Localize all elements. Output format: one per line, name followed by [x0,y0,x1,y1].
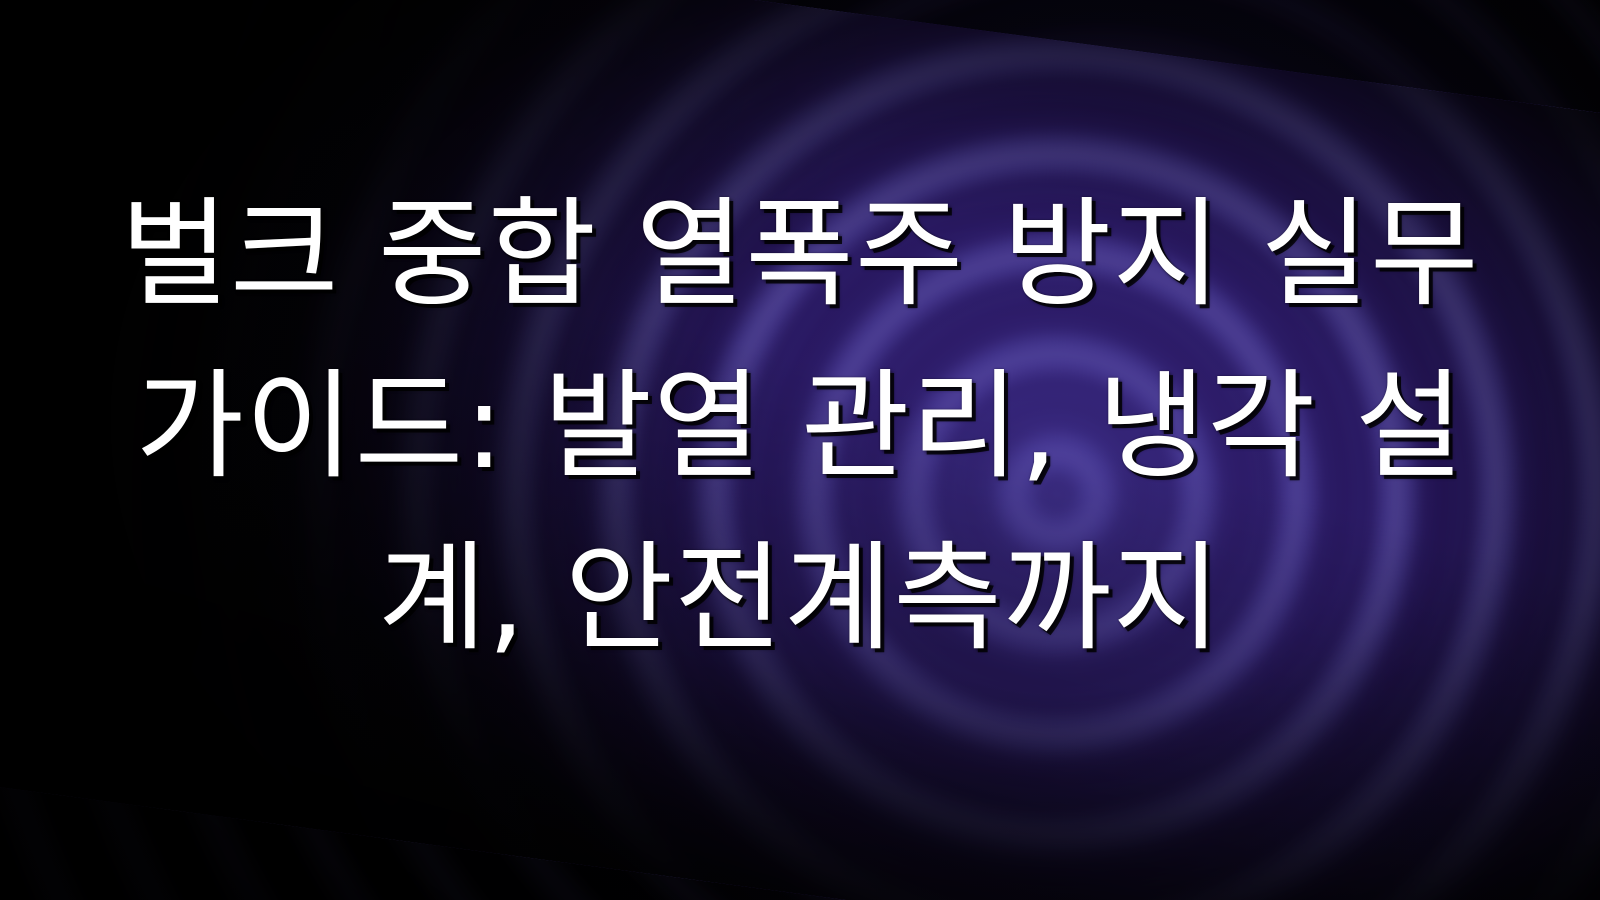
slab-bottom-shade [0,0,1600,900]
slide-canvas: 벌크 중합 열폭주 방지 실무 가이드: 발열 관리, 냉각 설 계, 안전계측… [0,0,1600,900]
background-slab [0,0,1600,900]
